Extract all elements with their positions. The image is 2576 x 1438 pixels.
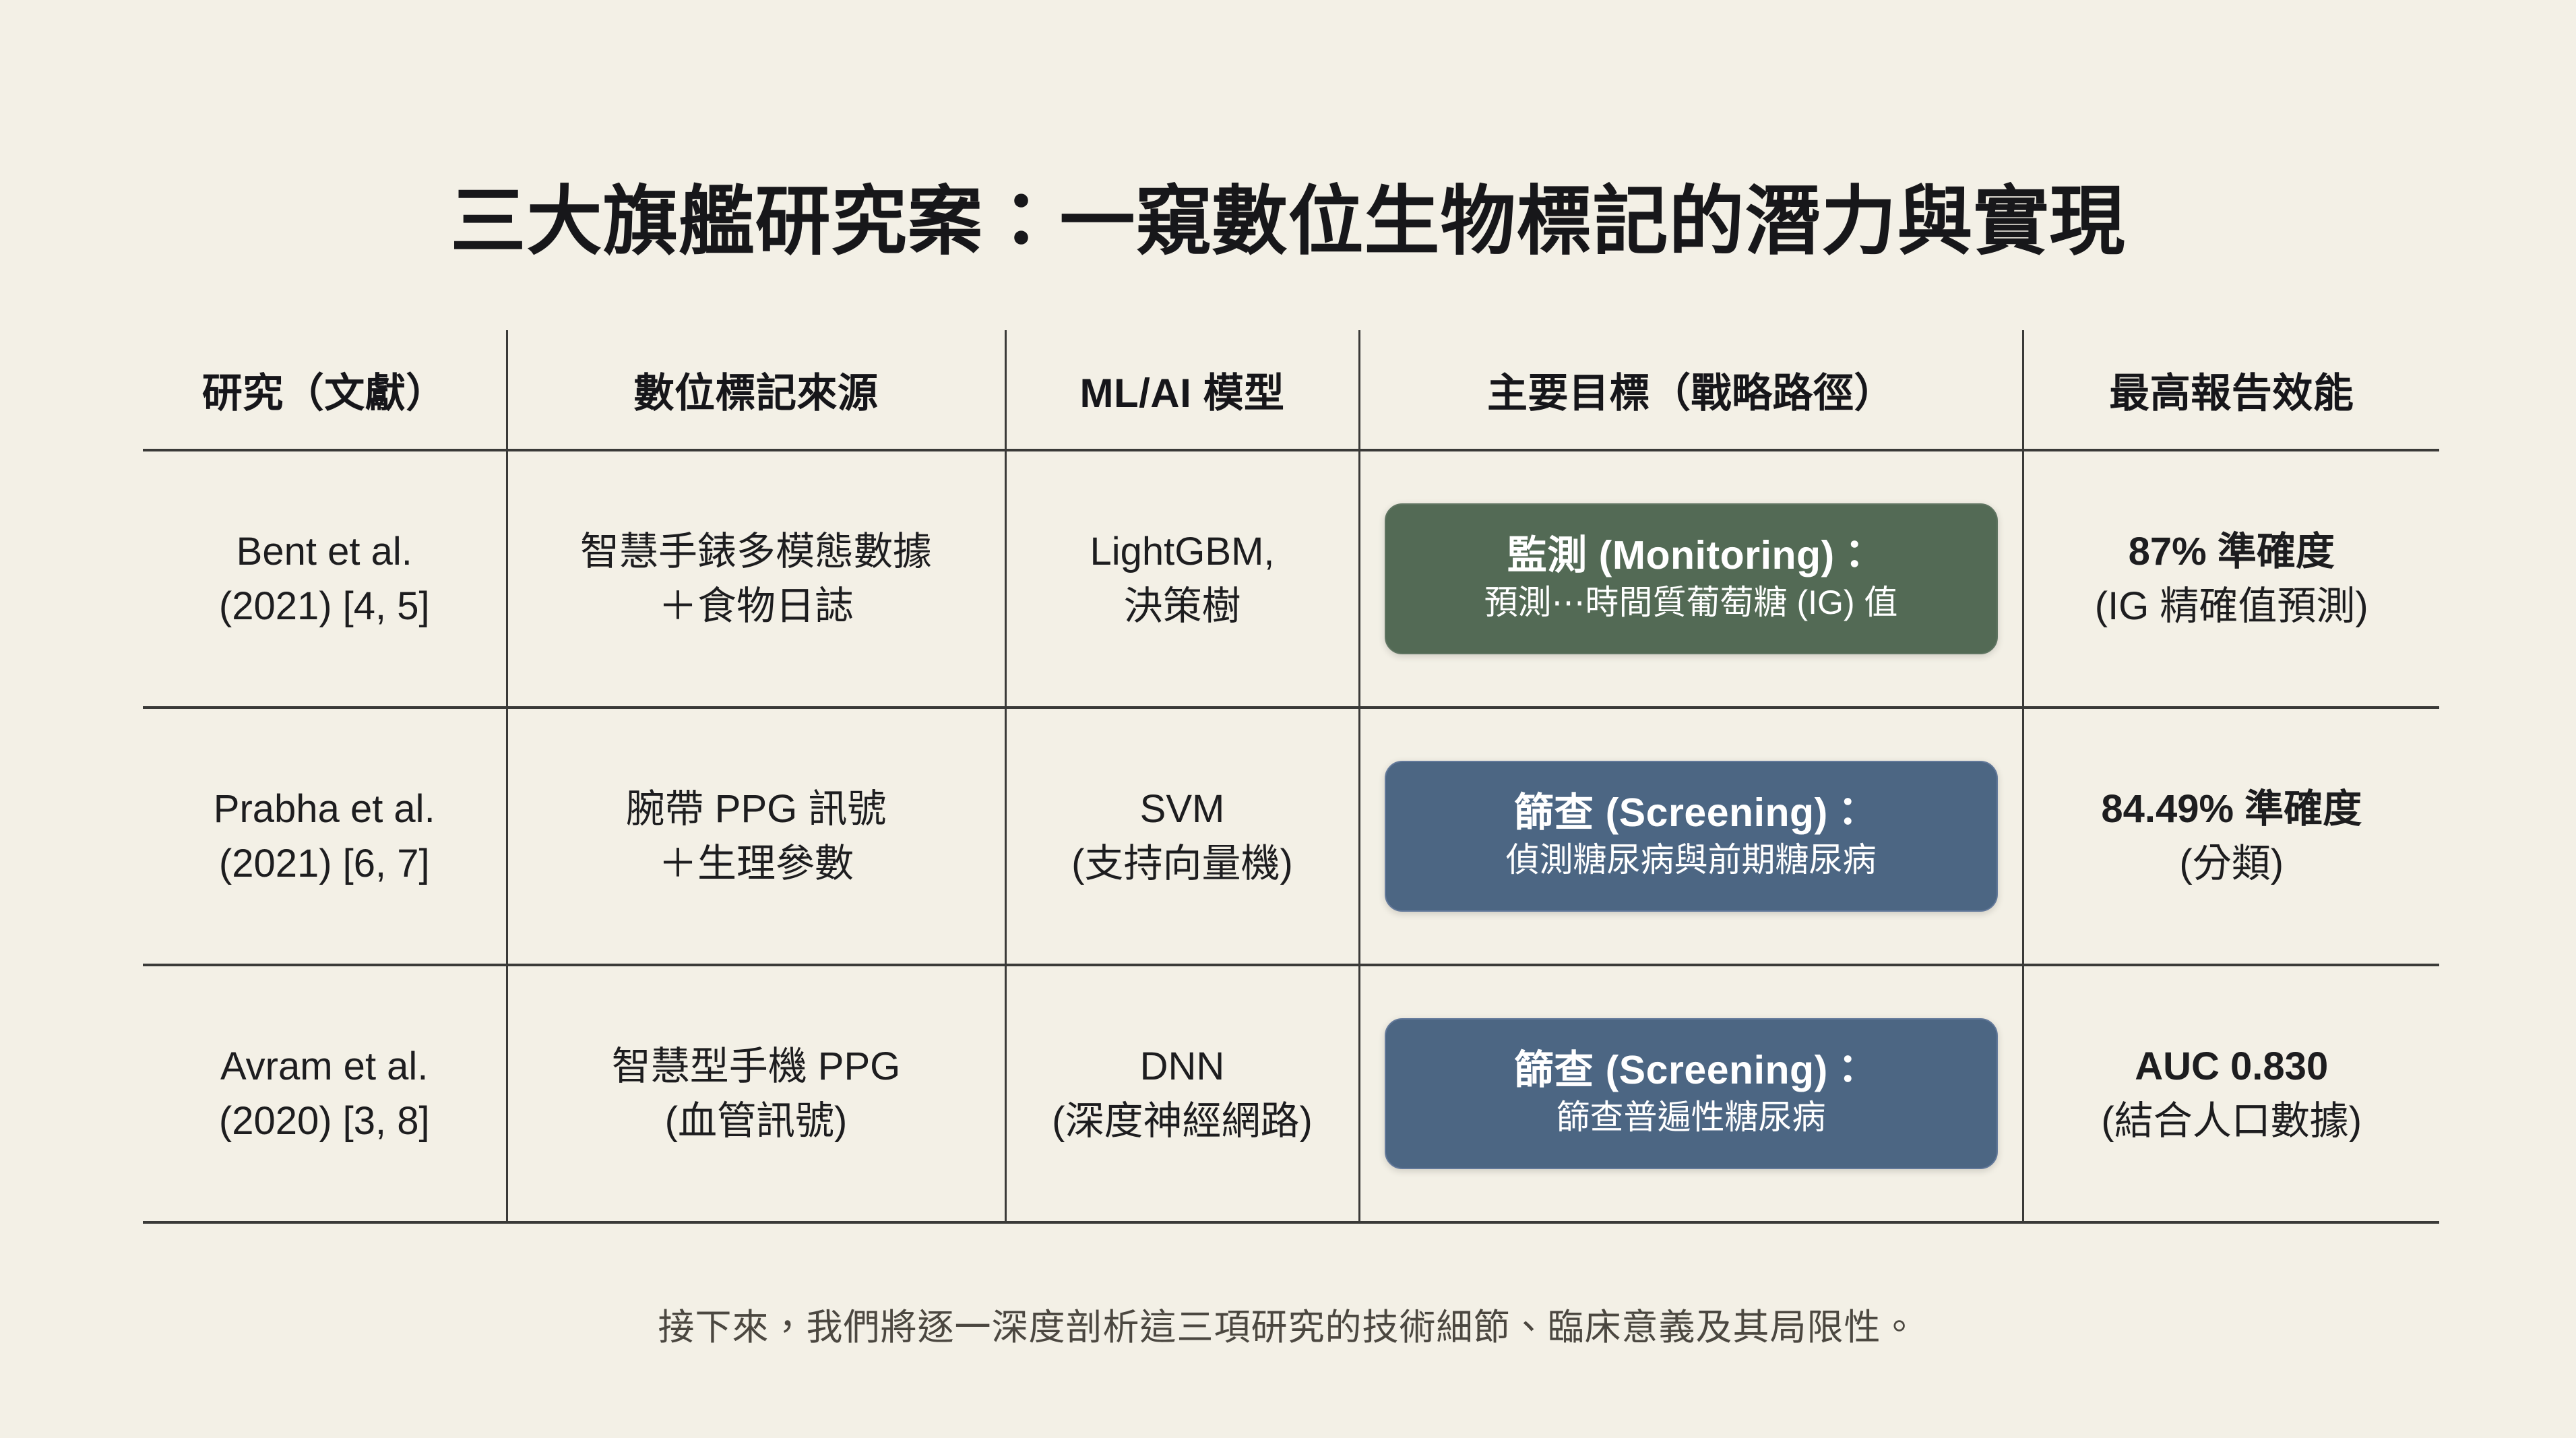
footer-note: 接下來，我們將逐一深度剖析這三項研究的技術細節、臨床意義及其局限性。 <box>0 1304 2576 1351</box>
column-header-goal: 主要目標（戰略路徑） <box>1359 330 2023 450</box>
performance-note: (結合人口數據) <box>2024 1094 2440 1148</box>
source-primary: 腕帶 PPG 訊號 <box>508 782 1005 836</box>
goal-badge-screening: 篩查 (Screening)： 偵測糖尿病與前期糖尿病 <box>1385 761 1998 912</box>
goal-badge-title: 篩查 (Screening)： <box>1514 790 1868 837</box>
cell-study: Bent et al. (2021) [4, 5] <box>143 450 507 708</box>
performance-note: (分類) <box>2024 836 2440 891</box>
study-name: Avram et al. <box>143 1039 506 1094</box>
cell-goal: 篩查 (Screening)： 偵測糖尿病與前期糖尿病 <box>1359 708 2023 965</box>
goal-badge-title: 篩查 (Screening)： <box>1514 1047 1868 1094</box>
study-name: Prabha et al. <box>143 782 506 836</box>
model-primary: LightGBM, <box>1007 524 1358 579</box>
column-header-model: ML/AI 模型 <box>1005 330 1359 450</box>
goal-badge-subtitle: 篩查普遍性糖尿病 <box>1557 1097 1826 1137</box>
table-row: Prabha et al. (2021) [6, 7] 腕帶 PPG 訊號 ＋生… <box>143 708 2439 965</box>
research-comparison-table: 研究（文獻） 數位標記來源 ML/AI 模型 主要目標（戰略路徑） 最高報告效能… <box>143 330 2439 1224</box>
cell-goal: 監測 (Monitoring)： 預測⋯時間質葡萄糖 (IG) 值 <box>1359 450 2023 708</box>
header-row: 研究（文獻） 數位標記來源 ML/AI 模型 主要目標（戰略路徑） 最高報告效能 <box>143 330 2439 450</box>
performance-value: 84.49% 準確度 <box>2024 782 2440 836</box>
column-header-performance: 最高報告效能 <box>2023 330 2439 450</box>
cell-source: 智慧型手機 PPG (血管訊號) <box>507 965 1005 1222</box>
source-primary: 智慧手錶多模態數據 <box>508 524 1005 579</box>
goal-badge-subtitle: 預測⋯時間質葡萄糖 (IG) 值 <box>1484 582 1898 623</box>
performance-value: 87% 準確度 <box>2024 524 2440 579</box>
source-primary: 智慧型手機 PPG <box>508 1039 1005 1094</box>
column-header-source: 數位標記來源 <box>507 330 1005 450</box>
cell-performance: 84.49% 準確度 (分類) <box>2023 708 2439 965</box>
slide-canvas: 三大旗艦研究案：一窺數位生物標記的潛力與實現 研究（文獻） 數位標記來源 ML/… <box>0 0 2576 1438</box>
cell-study: Avram et al. (2020) [3, 8] <box>143 965 507 1222</box>
matrix-table: 研究（文獻） 數位標記來源 ML/AI 模型 主要目標（戰略路徑） 最高報告效能… <box>143 330 2439 1224</box>
table-body: Bent et al. (2021) [4, 5] 智慧手錶多模態數據 ＋食物日… <box>143 450 2439 1222</box>
cell-source: 腕帶 PPG 訊號 ＋生理參數 <box>507 708 1005 965</box>
study-citation: (2021) [4, 5] <box>143 579 506 633</box>
table-row: Avram et al. (2020) [3, 8] 智慧型手機 PPG (血管… <box>143 965 2439 1222</box>
goal-badge-title: 監測 (Monitoring)： <box>1507 532 1875 580</box>
model-primary: SVM <box>1007 782 1358 836</box>
table-head: 研究（文獻） 數位標記來源 ML/AI 模型 主要目標（戰略路徑） 最高報告效能 <box>143 330 2439 450</box>
model-primary: DNN <box>1007 1039 1358 1094</box>
cell-study: Prabha et al. (2021) [6, 7] <box>143 708 507 965</box>
cell-goal: 篩查 (Screening)： 篩查普遍性糖尿病 <box>1359 965 2023 1222</box>
study-name: Bent et al. <box>143 524 506 579</box>
goal-badge-monitoring: 監測 (Monitoring)： 預測⋯時間質葡萄糖 (IG) 值 <box>1385 503 1998 654</box>
model-secondary: (支持向量機) <box>1007 836 1358 891</box>
goal-badge-screening: 篩查 (Screening)： 篩查普遍性糖尿病 <box>1385 1018 1998 1169</box>
performance-value: AUC 0.830 <box>2024 1039 2440 1094</box>
cell-model: DNN (深度神經網路) <box>1005 965 1359 1222</box>
source-secondary: ＋食物日誌 <box>508 579 1005 633</box>
study-citation: (2020) [3, 8] <box>143 1094 506 1148</box>
cell-performance: 87% 準確度 (IG 精確值預測) <box>2023 450 2439 708</box>
cell-source: 智慧手錶多模態數據 ＋食物日誌 <box>507 450 1005 708</box>
performance-note: (IG 精確值預測) <box>2024 579 2440 633</box>
column-header-study: 研究（文獻） <box>143 330 507 450</box>
goal-badge-subtitle: 偵測糖尿病與前期糖尿病 <box>1506 840 1877 880</box>
model-secondary: (深度神經網路) <box>1007 1094 1358 1148</box>
study-citation: (2021) [6, 7] <box>143 836 506 891</box>
cell-model: SVM (支持向量機) <box>1005 708 1359 965</box>
cell-model: LightGBM, 決策樹 <box>1005 450 1359 708</box>
source-secondary: ＋生理參數 <box>508 836 1005 891</box>
page-title: 三大旗艦研究案：一窺數位生物標記的潛力與實現 <box>0 176 2576 268</box>
table-row: Bent et al. (2021) [4, 5] 智慧手錶多模態數據 ＋食物日… <box>143 450 2439 708</box>
source-secondary: (血管訊號) <box>508 1094 1005 1148</box>
model-secondary: 決策樹 <box>1007 579 1358 633</box>
cell-performance: AUC 0.830 (結合人口數據) <box>2023 965 2439 1222</box>
